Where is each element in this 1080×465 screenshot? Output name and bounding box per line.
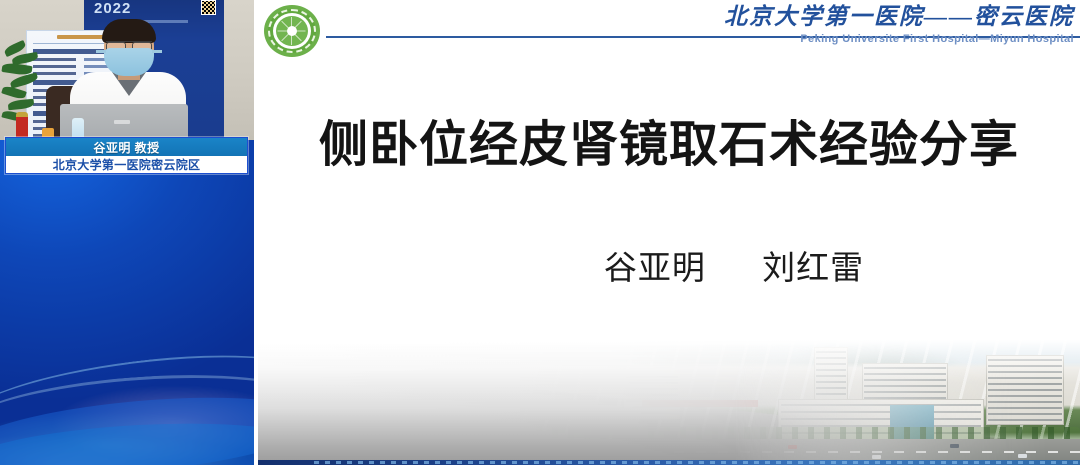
presenter-names: 谷亚明 刘红雷 (258, 246, 1080, 290)
nameplate-affiliation-row: 北京大学第一医院密云院区 (6, 156, 247, 173)
presentation-slide[interactable]: 北京大学第一医院——密云医院 Peking Universite First H… (258, 0, 1080, 465)
presenter-hair (102, 19, 156, 43)
hospital-name-english: Peking Universite First Hospital—Miyun H… (724, 32, 1074, 46)
slide-bottom-accent-strip (258, 460, 1080, 465)
banner-year-label: 2022 (94, 0, 131, 17)
red-bottle (16, 112, 28, 140)
footer-gradient-plate (258, 343, 1080, 461)
presenter-name-primary: 谷亚明 (604, 249, 706, 286)
slide-title: 侧卧位经皮肾镜取石术经验分享 (258, 116, 1080, 174)
webcam-video-panel[interactable]: 2022 (0, 0, 254, 465)
nameplate-speaker: 谷亚明 教授 (93, 139, 159, 156)
video-room-scene: 2022 (0, 0, 254, 140)
lower-third-nameplate: 谷亚明 教授 北京大学第一医院密云院区 (5, 137, 248, 174)
screenshot-stage: 2022 (0, 0, 1080, 465)
presenter-name-secondary: 刘红雷 (762, 249, 864, 286)
slide-footer-photo-band (258, 340, 1080, 465)
hospital-seal-icon (264, 5, 320, 57)
qr-code-icon (201, 0, 216, 15)
mask-strap (152, 50, 162, 53)
slide-header: 北京大学第一医院——密云医院 Peking Universite First H… (258, 0, 1080, 62)
nameplate-affiliation: 北京大学第一医院密云院区 (53, 156, 201, 173)
nameplate-speaker-row: 谷亚明 教授 (6, 138, 247, 156)
hospital-brand-block: 北京大学第一医院——密云医院 Peking Universite First H… (724, 2, 1074, 46)
mask-strap (96, 50, 106, 53)
video-branded-background (0, 140, 254, 465)
laptop-logo (114, 120, 130, 124)
hospital-name-chinese: 北京大学第一医院——密云医院 (724, 2, 1074, 32)
